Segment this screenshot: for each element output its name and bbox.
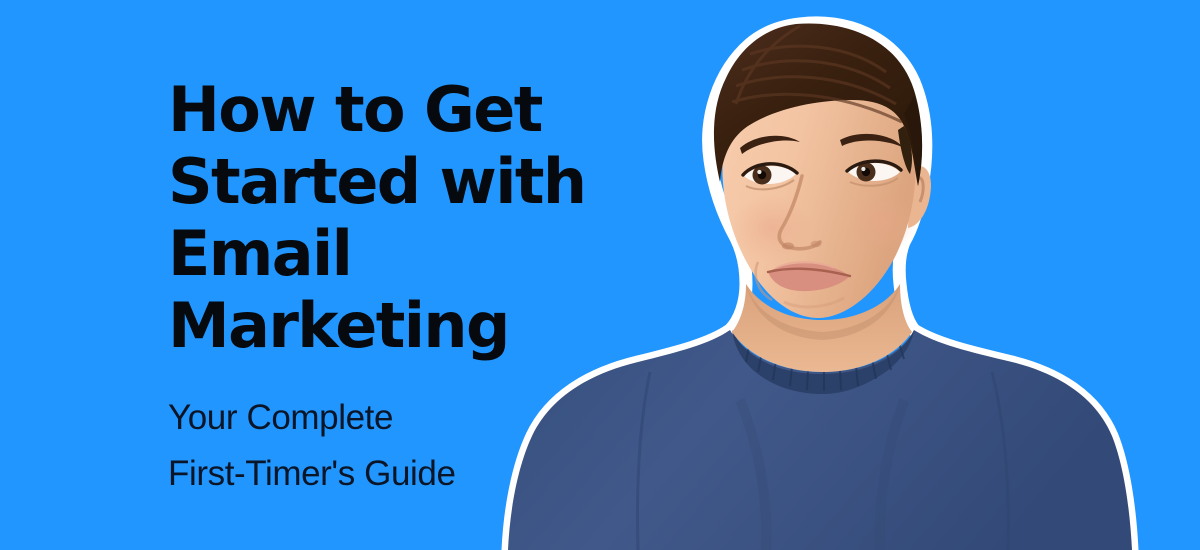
cheek-right [848,192,916,252]
nostril-left [782,242,794,249]
text-block: How to Get Started with Email Marketing … [168,74,638,502]
cheek-left [732,194,812,262]
nostril-right [811,241,822,247]
page-title: How to Get Started with Email Marketing [168,74,638,362]
email-marketing-banner: How to Get Started with Email Marketing … [0,0,1200,550]
page-subtitle: Your Complete First-Timer's Guide [168,362,638,502]
